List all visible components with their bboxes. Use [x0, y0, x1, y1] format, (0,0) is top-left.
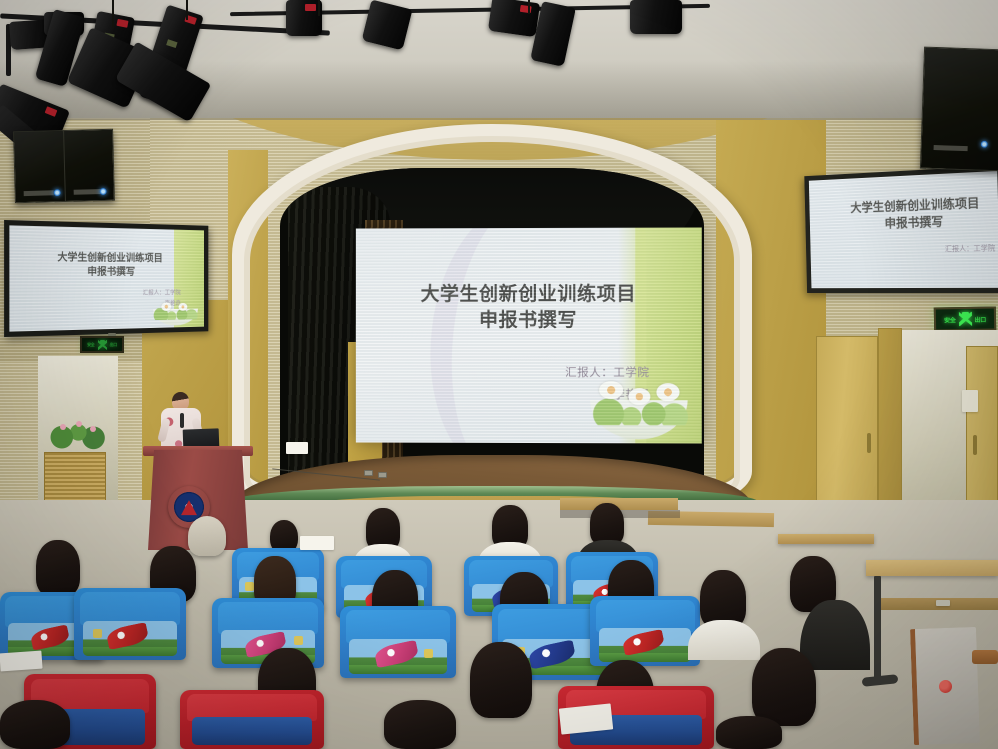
left-display-surface: 大学生创新创业训练项目 申报书撰写 汇报人：工学院 李艳奇 — [9, 225, 204, 331]
bag-sticker-icon — [424, 649, 433, 658]
audience-head — [384, 700, 456, 749]
running-man-icon — [98, 340, 107, 350]
stage-spotlight-9 — [286, 0, 322, 36]
slide-title-line-2: 申报书撰写 — [356, 308, 702, 334]
side-desk-right — [866, 560, 998, 576]
stage-floor-marker — [286, 442, 308, 454]
seat-bag — [74, 588, 186, 660]
audience-shoulders — [688, 620, 760, 660]
exit-sign-label-left: 安全 — [944, 315, 956, 324]
right-display-surface: 大学生创新创业训练项目 申报书撰写 汇报人：工学院 — [809, 171, 998, 288]
daisy-flower-icon — [161, 302, 171, 311]
stage-spotlight-13 — [630, 0, 682, 34]
bag-sticker-icon — [245, 582, 254, 591]
speaker-power-led-icon — [100, 188, 107, 195]
folding-seat-right — [910, 627, 980, 745]
audience-notebook — [300, 536, 334, 550]
bag-graphic — [192, 717, 313, 745]
door-handle-icon — [973, 435, 977, 455]
cable-connector — [378, 472, 387, 478]
wall-speaker-right — [920, 47, 998, 172]
audience-head — [470, 642, 532, 718]
audience-notebook — [0, 651, 43, 672]
slide-title: 大学生创新创业训练项目 申报书撰写 — [9, 251, 204, 279]
daisy-flower-icon — [657, 383, 680, 401]
speaker-power-led-icon — [981, 141, 988, 148]
speaker-divider — [63, 131, 66, 201]
bag-graphic — [349, 639, 446, 674]
seat-bag — [590, 596, 700, 666]
side-desk-leg — [874, 576, 881, 681]
desk-item-eraser — [936, 600, 950, 606]
bag-sticker-icon — [93, 629, 102, 638]
flower-bloom — [90, 426, 96, 432]
running-man-icon — [958, 312, 971, 326]
right-lcd-display: 大学生创新创业训练项目 申报书撰写 汇报人：工学院 — [804, 165, 998, 293]
audience-head — [0, 700, 70, 749]
exit-sign-label-right: 出口 — [974, 314, 986, 323]
flower-bloom — [60, 424, 66, 430]
speaker-brand-label — [24, 190, 54, 196]
slide-swirl-decoration — [417, 227, 590, 443]
bag-grass — [599, 653, 691, 662]
audience-head — [752, 648, 816, 726]
audience-head — [716, 716, 782, 749]
spotlight-label — [167, 39, 178, 48]
flower-bloom — [76, 421, 82, 427]
spotlight-indicator-icon — [45, 106, 58, 117]
speaker-brand-label — [934, 145, 968, 151]
exit-sign-left: 安全 出口 — [80, 336, 124, 353]
slide-daisy-decoration — [583, 370, 694, 441]
slide-title-line-1: 大学生创新创业训练项目 — [356, 281, 702, 308]
daisy-flower-icon — [628, 389, 650, 406]
speaker-power-led-icon — [54, 189, 61, 196]
slide-title: 大学生创新创业训练项目 申报书撰写 — [820, 194, 998, 233]
door-handle-icon — [867, 433, 871, 453]
potted-plant-left — [42, 418, 108, 450]
bag-grass — [349, 665, 446, 674]
wall-speaker-left-pair — [13, 129, 115, 204]
slide-presenter-label: 汇报人：工学院 — [945, 243, 996, 257]
audience-head — [590, 503, 624, 545]
exit-sign-label-left: 安全 — [87, 342, 94, 348]
slide-title-line-2: 申报书撰写 — [9, 265, 204, 279]
aisle-desk-far — [778, 534, 874, 544]
exit-sign-label-right: 出口 — [110, 342, 117, 348]
exit-sign-right: 安全 出口 — [934, 306, 996, 331]
daisy-leaves — [152, 308, 199, 321]
bag-graphic — [599, 628, 691, 662]
main-projection-screen: 大学生创新创业训练项目 申报书撰写 汇报人：工学院 李艳奇 — [356, 227, 702, 443]
auditorium-photo: 大学生创新创业训练项目 申报书撰写 汇报人：工学院 李艳奇 大学生创新创业训练项… — [0, 0, 998, 749]
slide-daisy-decoration — [150, 297, 201, 327]
cable-connector — [364, 470, 373, 476]
slide-title: 大学生创新创业训练项目 申报书撰写 — [356, 281, 702, 334]
seat-bag — [180, 690, 324, 749]
audience-head — [36, 540, 80, 596]
handheld-microphone-icon — [180, 413, 184, 428]
slide-title-line-1: 大学生创新创业训练项目 — [9, 251, 204, 266]
left-lcd-display: 大学生创新创业训练项目 申报书撰写 汇报人：工学院 李艳奇 — [4, 220, 208, 337]
apple-sticker-icon — [939, 680, 952, 693]
slide-subtitle: 汇报人：工学院 — [945, 243, 996, 257]
bag-sticker-icon — [294, 636, 303, 645]
seat-bag — [340, 606, 456, 678]
bag-graphic — [83, 621, 177, 656]
bag-grass — [83, 647, 177, 656]
audience-head — [188, 516, 226, 556]
audience-notebook — [559, 703, 613, 734]
crest-pagoda-icon — [181, 500, 197, 515]
spotlight-indicator-icon — [305, 4, 316, 11]
seat-armrest-right — [972, 650, 998, 664]
wall-notice — [962, 390, 978, 412]
